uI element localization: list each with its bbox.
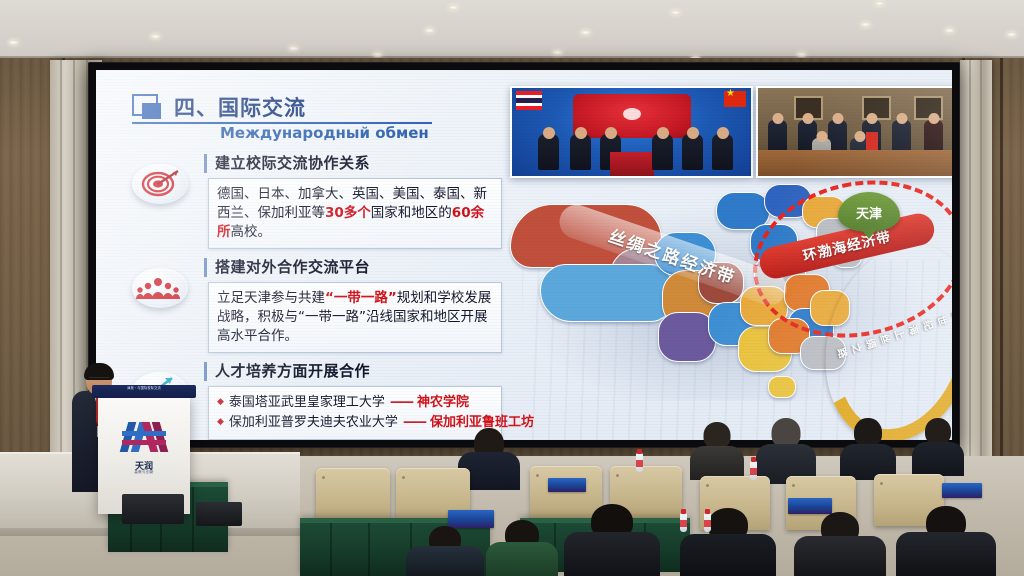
audience-chair bbox=[316, 468, 390, 524]
bulgaria-meeting-photo bbox=[756, 86, 952, 178]
people-group-icon bbox=[132, 268, 188, 308]
province-hainan bbox=[768, 376, 796, 398]
downlight-icon bbox=[150, 34, 161, 39]
audience-namecard bbox=[788, 498, 832, 514]
diamond-bullet-icon: ◆ bbox=[217, 416, 224, 430]
block-heading: 搭建对外合作交流平台 bbox=[204, 258, 502, 277]
diamond-bullet-icon: ◆ bbox=[217, 396, 224, 410]
podium-banner: 津冀・与国际校际交流 bbox=[92, 385, 196, 398]
downlight-icon bbox=[424, 28, 435, 33]
list-item: ◆ 泰国塔亚武里皇家理工大学 —— 神农学院 bbox=[217, 393, 493, 413]
partner-name: 保加利亚普罗夫迪夫农业大学 bbox=[229, 413, 398, 433]
institution-tagline: 高教与创新 bbox=[134, 470, 153, 475]
downlight-icon bbox=[1006, 32, 1017, 37]
slide-title-row: 四、国际交流 bbox=[132, 92, 306, 122]
water-bottle bbox=[750, 461, 757, 480]
ceiling bbox=[0, 0, 1024, 62]
tianjin-map-pin[interactable]: 天津 bbox=[838, 192, 900, 232]
conference-hall-scene: 四、国际交流 Международный обмен 建立校际交流协作关系 德国… bbox=[0, 0, 1024, 576]
water-bottle bbox=[704, 513, 711, 532]
downlight-icon bbox=[580, 30, 591, 35]
block-body: 德国、日本、加拿大、英国、美国、泰国、新西兰、保加利亚等30多个国家和地区的60… bbox=[208, 178, 502, 249]
podium-banner-line1: 津冀・与国际校际交流 bbox=[127, 386, 161, 390]
downlight-icon bbox=[860, 22, 871, 27]
dash-separator: —— bbox=[403, 413, 425, 433]
body-text-1: 立足天津参与共建 bbox=[217, 290, 325, 306]
audience-member bbox=[680, 508, 776, 576]
audience-namecard bbox=[548, 478, 586, 492]
laptop bbox=[196, 502, 242, 526]
cooperation-list: ◆ 泰国塔亚武里皇家理工大学 —— 神农学院 ◆ 保加利亚普罗夫迪夫农业大学 —… bbox=[217, 393, 493, 433]
audience-member bbox=[690, 422, 744, 480]
institution-logo bbox=[122, 422, 166, 454]
square-mark-icon bbox=[132, 94, 162, 120]
water-bottle bbox=[680, 513, 687, 532]
audience-member bbox=[896, 506, 996, 576]
highlight-1: 30多个 bbox=[325, 205, 371, 221]
body-text-3: 高校。 bbox=[231, 224, 272, 240]
content-block-partnerships: 建立校际交流协作关系 德国、日本、加拿大、英国、美国、泰国、新西兰、保加利亚等3… bbox=[130, 154, 502, 249]
confidence-monitor bbox=[122, 494, 184, 524]
block-body: 立足天津参与共建“一带一路”规划和学校发展战略，积极与“一带一路”沿线国家和地区… bbox=[208, 282, 502, 353]
body-text-2: 国家和地区的 bbox=[371, 205, 452, 221]
audience-namecard bbox=[942, 483, 982, 498]
audience-member bbox=[486, 520, 558, 576]
downlight-icon bbox=[670, 10, 681, 15]
page-title: 四、国际交流 bbox=[174, 92, 306, 122]
highlight-1: “一带一路” bbox=[325, 290, 397, 306]
downlight-icon bbox=[288, 46, 299, 51]
curtain-right bbox=[960, 60, 992, 460]
downlight-icon bbox=[796, 52, 807, 57]
slide-subtitle: Международный обмен bbox=[220, 124, 429, 142]
partner-name: 泰国塔亚武里皇家理工大学 bbox=[229, 393, 385, 413]
downlight-icon bbox=[874, 1, 885, 6]
downlight-icon bbox=[448, 5, 459, 10]
province-tibet bbox=[540, 264, 672, 322]
downlight-icon bbox=[8, 40, 19, 45]
downlight-icon bbox=[944, 28, 955, 33]
target-icon bbox=[132, 164, 188, 204]
audience-member bbox=[794, 512, 886, 576]
list-item: ◆ 保加利亚普罗夫迪夫农业大学 —— 保加利亚鲁班工坊 bbox=[217, 413, 493, 433]
partner-result: 神农学院 bbox=[417, 393, 469, 413]
thailand-ceremony-photo bbox=[510, 86, 753, 178]
audience-member bbox=[406, 526, 484, 576]
downlight-icon bbox=[372, 52, 383, 57]
water-bottle bbox=[636, 453, 643, 472]
audience-member bbox=[912, 418, 964, 476]
block-heading: 人才培养方面开展合作 bbox=[204, 362, 502, 381]
audience-member bbox=[564, 504, 660, 576]
downlight-icon bbox=[552, 50, 563, 55]
dash-separator: —— bbox=[390, 393, 412, 413]
content-block-platform: 搭建对外合作交流平台 立足天津参与共建“一带一路”规划和学校发展战略，积极与“一… bbox=[130, 258, 502, 353]
audience-member bbox=[756, 418, 816, 484]
presentation-screen[interactable]: 四、国际交流 Международный обмен 建立校际交流协作关系 德国… bbox=[96, 70, 952, 440]
china-economic-belt-map: 21世纪海上丝绸之路 丝绸之路经济带 环渤海经济带 天津 bbox=[502, 178, 952, 430]
audience-member bbox=[840, 418, 896, 480]
wall-seam bbox=[1000, 58, 1003, 488]
block-heading: 建立校际交流协作关系 bbox=[204, 154, 502, 173]
glasses-icon bbox=[89, 377, 109, 383]
